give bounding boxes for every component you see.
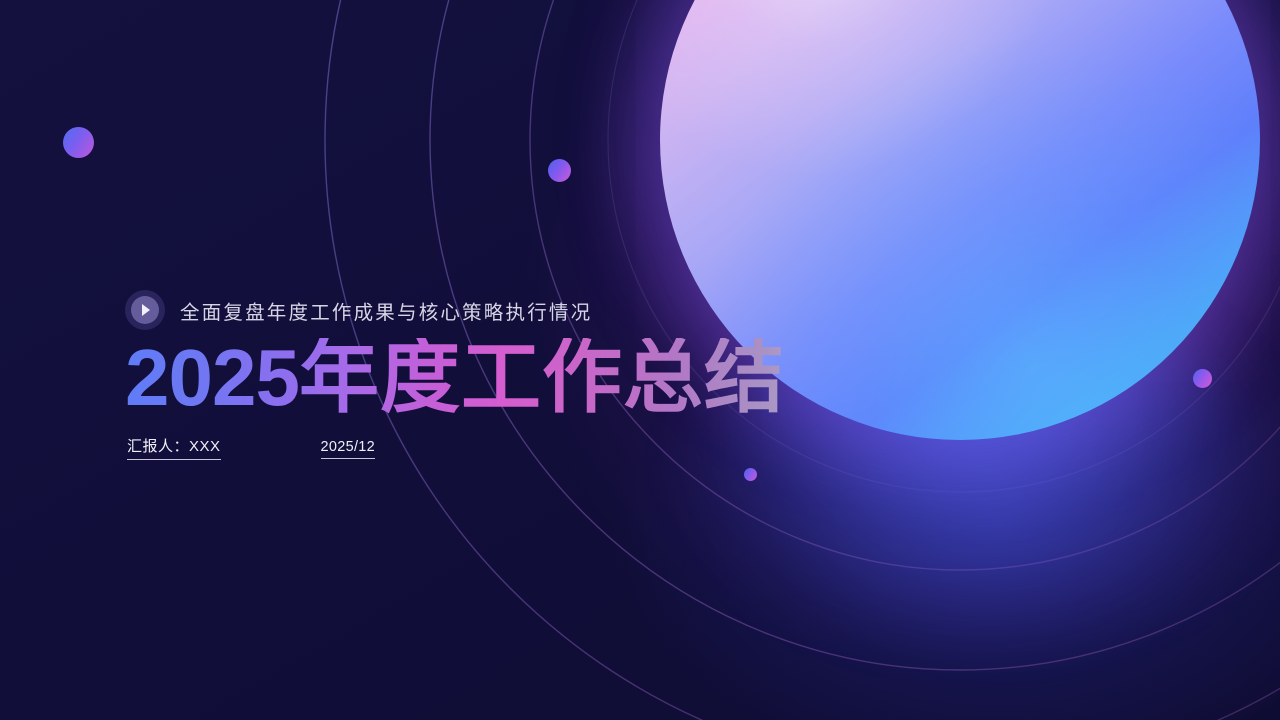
play-icon[interactable] bbox=[125, 290, 165, 330]
title-text: 年度工作总结 bbox=[299, 335, 785, 423]
subtitle-row: 全面复盘年度工作成果与核心策略执行情况 bbox=[125, 288, 885, 332]
decorative-dot-medium bbox=[548, 159, 571, 182]
title-year: 2025 bbox=[125, 333, 299, 422]
slide-content: 全面复盘年度工作成果与核心策略执行情况 2025年度工作总结 汇报人：XXX 2… bbox=[125, 288, 885, 460]
decorative-dot-small bbox=[744, 468, 757, 481]
presentation-slide: 全面复盘年度工作成果与核心策略执行情况 2025年度工作总结 汇报人：XXX 2… bbox=[0, 0, 1280, 720]
slide-subtitle: 全面复盘年度工作成果与核心策略执行情况 bbox=[180, 296, 592, 325]
decorative-dot-large bbox=[63, 127, 94, 158]
decorative-dot-right bbox=[1193, 369, 1212, 388]
slide-meta: 汇报人：XXX 2025/12 bbox=[125, 435, 885, 460]
date-label: 2025/12 bbox=[321, 439, 376, 459]
page-title: 2025年度工作总结 bbox=[125, 338, 885, 419]
presenter-label: 汇报人：XXX bbox=[127, 435, 221, 460]
play-triangle-icon bbox=[142, 304, 150, 316]
